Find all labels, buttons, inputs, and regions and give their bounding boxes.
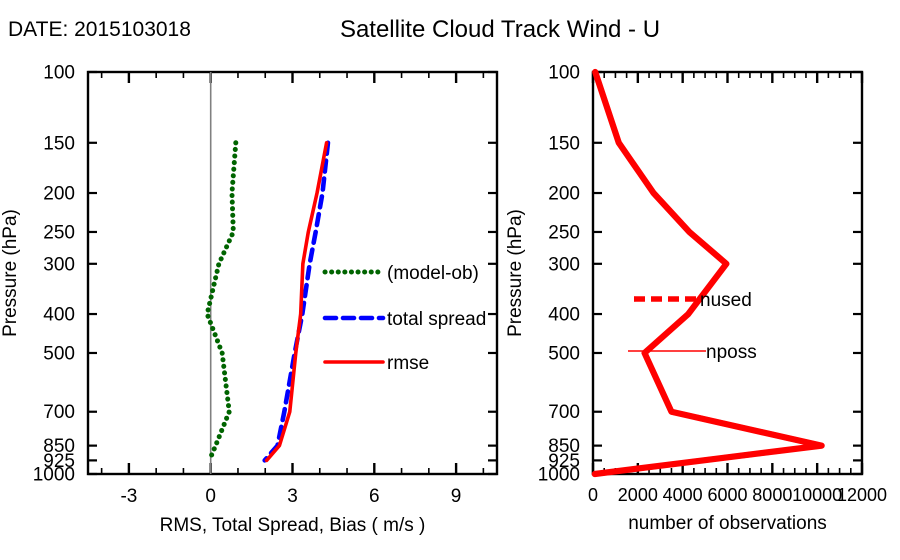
left-panel: -303691001502002503004005007008509251000… [0, 63, 497, 537]
left-ytick-label: 700 [43, 402, 75, 423]
right-xtick-label: 8000 [752, 485, 792, 505]
right-y-axis-title: Pressure (hPa) [505, 209, 526, 337]
left-ytick-label: 400 [43, 305, 75, 326]
chart-page: DATE: 2015103018 Satellite Cloud Track W… [0, 0, 900, 560]
left-ytick-label: 200 [43, 184, 75, 205]
right-xtick-label: 0 [588, 485, 598, 505]
left-xtick-label: -3 [120, 486, 137, 507]
right-ytick-label: 250 [548, 222, 580, 243]
legend-label: total spread [387, 309, 486, 330]
left-y-axis-title: Pressure (hPa) [0, 209, 21, 337]
right-ytick-label: 100 [548, 63, 580, 84]
left-ytick-label: 150 [43, 133, 75, 154]
right-series-nused [595, 72, 822, 474]
legend-label: nused [700, 290, 752, 311]
right-ytick-label: 300 [548, 254, 580, 275]
legend-label: nposs [706, 342, 757, 363]
right-plot-frame [593, 72, 862, 474]
left-ytick-label: 100 [43, 63, 75, 84]
right-ytick-label: 1000 [538, 465, 580, 486]
right-xtick-label: 6000 [707, 485, 747, 505]
left-xtick-label: 6 [369, 486, 380, 507]
legend-label: rmse [387, 353, 429, 374]
left-xtick-label: 9 [451, 486, 462, 507]
right-ytick-label: 700 [548, 402, 580, 423]
right-xtick-label: 10000 [792, 485, 842, 505]
right-xtick-label: 12000 [837, 485, 887, 505]
right-ytick-label: 500 [548, 343, 580, 364]
legend-label: (model-ob) [387, 263, 479, 284]
right-x-axis-title: number of observations [628, 513, 827, 534]
right-xtick-label: 4000 [663, 485, 703, 505]
left-legend: (model-ob)total spreadrmse [325, 263, 486, 374]
left-xtick-label: 3 [287, 486, 298, 507]
left-ytick-label: 500 [43, 343, 75, 364]
left-x-axis-title: RMS, Total Spread, Bias ( m/s ) [160, 515, 426, 536]
left-xtick-label: 0 [205, 486, 216, 507]
left-series-rmse [267, 143, 327, 461]
left-ytick-label: 1000 [33, 465, 75, 486]
left-ytick-label: 250 [43, 222, 75, 243]
right-xtick-label: 2000 [618, 485, 658, 505]
right-panel: 0200040006000800010000120001001502002503… [505, 63, 887, 535]
left-ytick-label: 300 [43, 254, 75, 275]
right-ytick-label: 150 [548, 133, 580, 154]
right-series-nposs [595, 72, 822, 474]
right-ytick-label: 400 [548, 305, 580, 326]
plot-canvas: -303691001502002503004005007008509251000… [0, 0, 900, 560]
right-ytick-label: 200 [548, 184, 580, 205]
